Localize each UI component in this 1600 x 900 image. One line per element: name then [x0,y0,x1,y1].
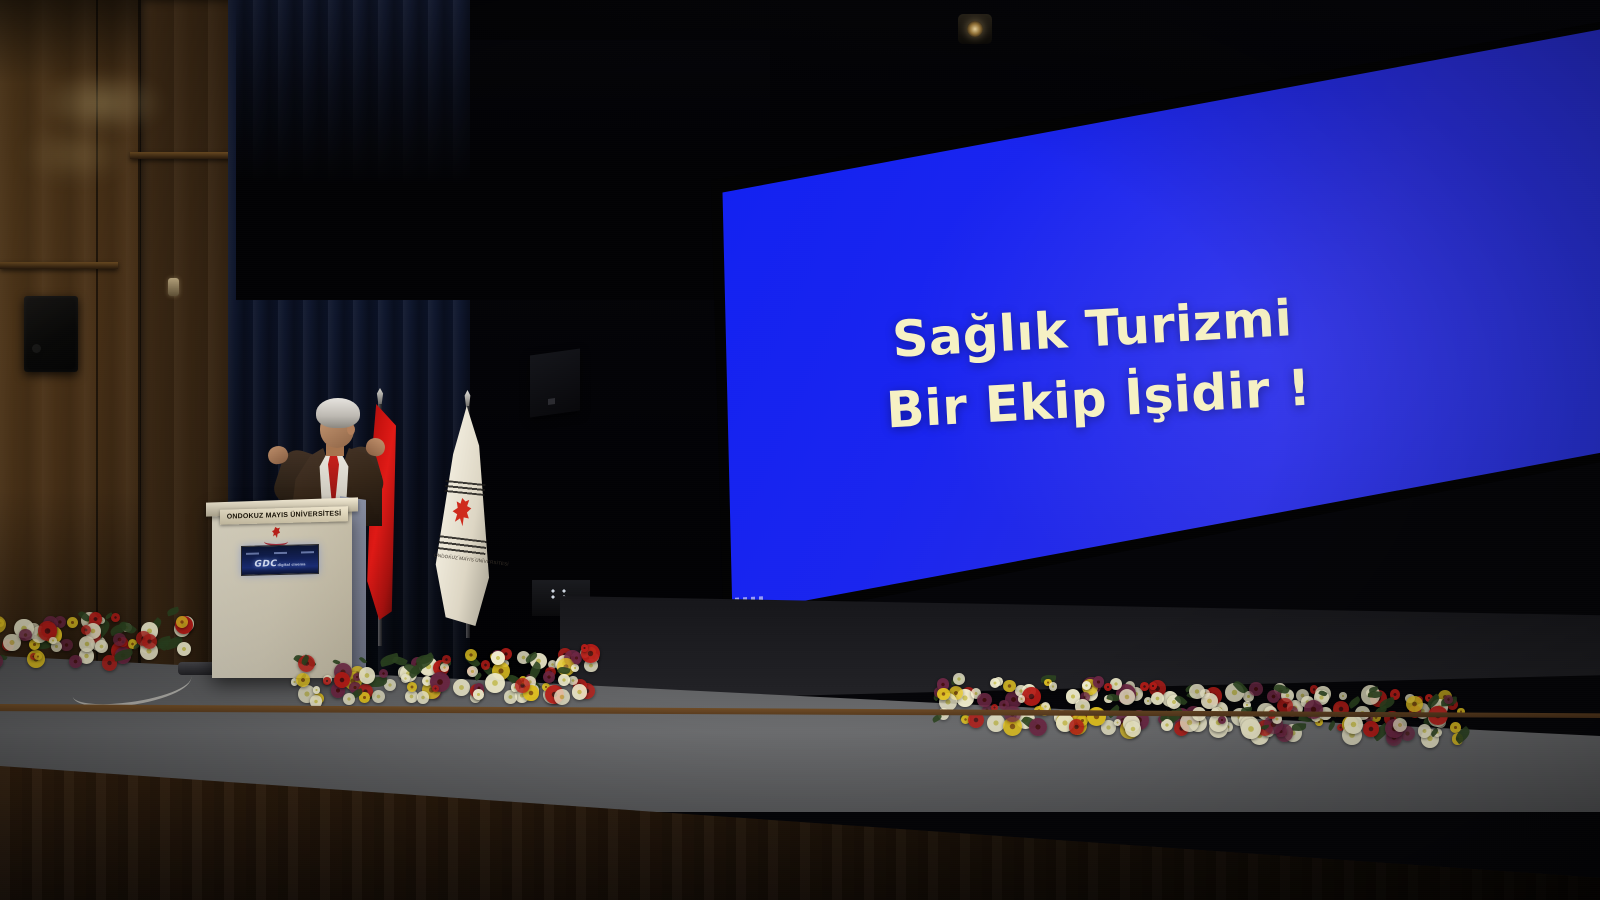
spotlight-lens-icon [967,21,983,37]
podium-monitor-toolbar [246,548,314,558]
university-logo-icon [264,527,288,544]
wall-light-reflection [20,128,130,182]
podium-nameplate-text: ONDOKUZ MAYIS ÜNİVERSİTESİ [227,510,342,520]
podium-monitor-brand: GDCdigital cinema [242,558,318,570]
wall-trim [0,262,118,269]
speaker-hair [316,398,360,428]
wall-speaker-icon [24,296,78,372]
wall-light-reflection [38,72,166,134]
podium-monitor[interactable]: GDCdigital cinema [241,544,319,576]
door-handle [168,278,179,296]
ceiling-spotlight-icon [958,14,992,44]
hanging-speaker-icon [530,348,580,417]
photo-scene: Sağlık Turizmi Bir Ekip İşidir ! ONDOKUZ… [0,0,1600,900]
